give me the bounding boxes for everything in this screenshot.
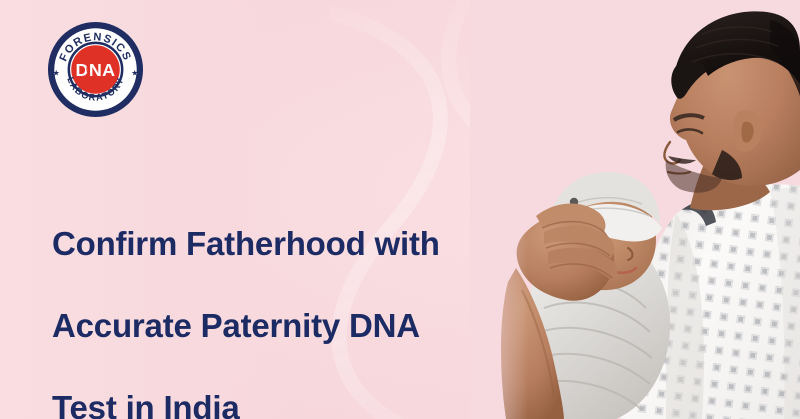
logo-star-right-icon: ★: [131, 68, 138, 77]
father-holding-newborn-photo: [470, 0, 800, 419]
logo-center-text: DNA: [75, 60, 115, 80]
page-title: Confirm Fatherhood with Accurate Paterni…: [52, 182, 482, 419]
headline-line-3: Test in India: [52, 387, 482, 419]
paternity-dna-test-banner: FORENSICS LABORATORY ★ ★ DNA: [0, 0, 800, 419]
headline-line-2: Accurate Paternity DNA: [52, 305, 482, 346]
logo-star-left-icon: ★: [53, 68, 60, 77]
headline-line-1: Confirm Fatherhood with: [52, 223, 482, 264]
forensics-dna-laboratory-logo[interactable]: FORENSICS LABORATORY ★ ★ DNA: [47, 21, 144, 118]
